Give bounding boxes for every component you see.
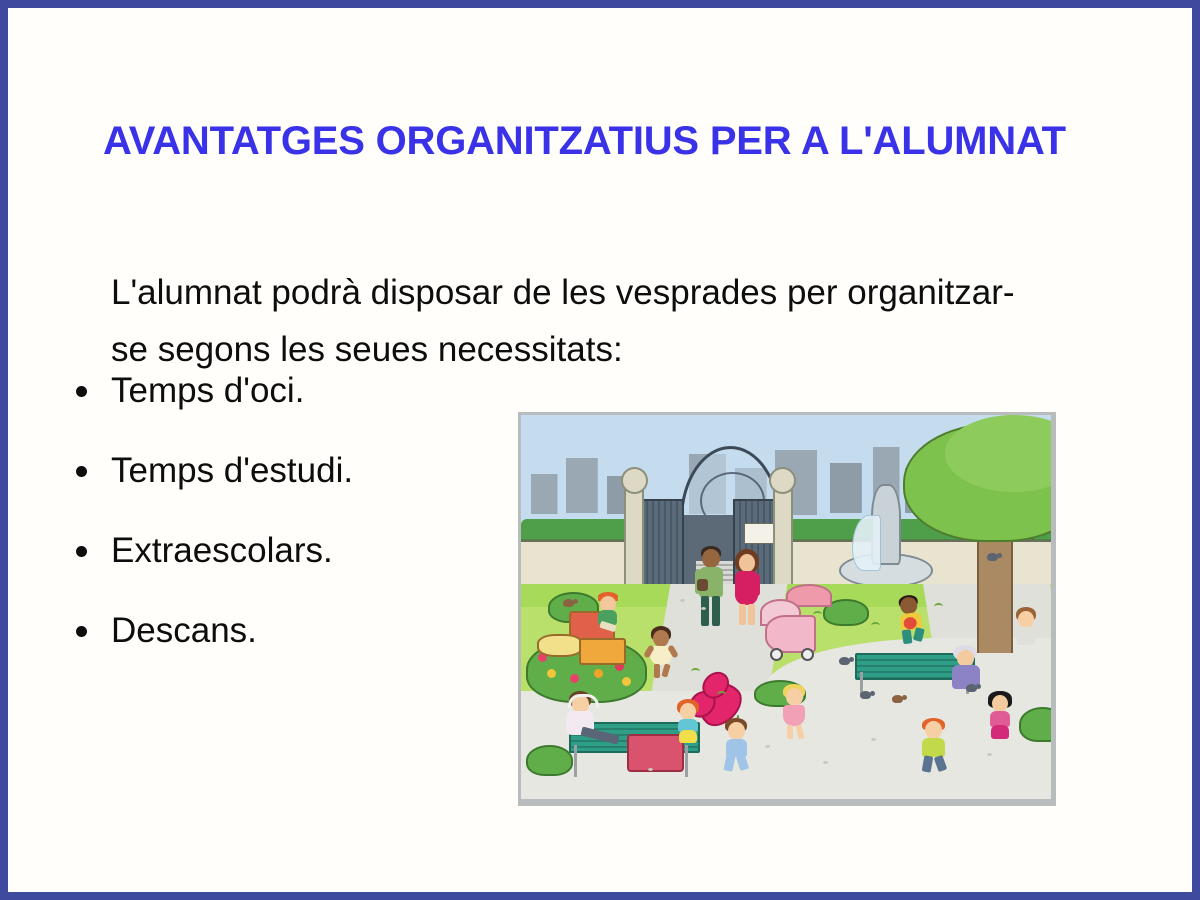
bullet-icon bbox=[76, 546, 87, 557]
toy-block bbox=[537, 634, 583, 657]
person-girl-magenta bbox=[987, 691, 1013, 743]
gate-post-ball-left bbox=[621, 467, 648, 494]
slide-canvas: AVANTATGES ORGANITZATIUS PER A L'ALUMNAT… bbox=[0, 0, 1200, 900]
pram-wheel bbox=[770, 648, 783, 661]
bush bbox=[1019, 707, 1051, 742]
headphones-icon bbox=[568, 694, 599, 708]
person-teen-headphones bbox=[563, 691, 621, 747]
person-father bbox=[696, 546, 726, 626]
person-elderly-woman bbox=[950, 645, 982, 689]
benefits-list: Temps d'oci. Temps d'estudi. Extraescola… bbox=[70, 364, 470, 684]
list-item: Extraescolars. bbox=[70, 524, 470, 604]
list-item: Temps d'estudi. bbox=[70, 444, 470, 524]
list-item: Temps d'oci. bbox=[70, 364, 470, 444]
list-item-label: Temps d'estudi. bbox=[111, 451, 353, 490]
list-item: Descans. bbox=[70, 604, 470, 684]
footprint bbox=[823, 761, 828, 764]
fountain-water-jet bbox=[852, 515, 881, 571]
bush bbox=[526, 745, 572, 776]
list-item-label: Descans. bbox=[111, 611, 257, 650]
flower bbox=[547, 669, 556, 678]
person-mother bbox=[733, 549, 761, 625]
grass-tuft bbox=[813, 611, 822, 618]
person-girl-icecream bbox=[675, 699, 701, 745]
pram-wheel bbox=[801, 648, 814, 661]
list-item-label: Extraescolars. bbox=[111, 531, 333, 570]
pigeon bbox=[839, 657, 850, 665]
grass-tuft bbox=[691, 668, 700, 675]
park-scene-canvas bbox=[521, 415, 1051, 799]
flower bbox=[622, 677, 631, 686]
person-girl-pink-dress bbox=[781, 684, 809, 738]
person-girl-by-tree bbox=[1014, 607, 1038, 647]
bench-leg bbox=[685, 745, 688, 777]
person-girl-waving bbox=[648, 626, 674, 676]
grass-tuft bbox=[627, 653, 636, 660]
bullet-icon bbox=[76, 626, 87, 637]
pigeon bbox=[987, 553, 998, 561]
baby-pram bbox=[765, 615, 817, 654]
list-item-label: Temps d'oci. bbox=[111, 371, 304, 410]
grass-tuft bbox=[934, 603, 943, 610]
bench-leg bbox=[574, 745, 577, 777]
gate-post-ball-right bbox=[769, 467, 796, 494]
footprint bbox=[871, 738, 876, 741]
intro-paragraph: L'alumnat podrà disposar de les vesprade… bbox=[111, 265, 1051, 378]
flower bbox=[570, 674, 579, 683]
pigeon bbox=[966, 684, 977, 692]
page-title: AVANTATGES ORGANITZATIUS PER A L'ALUMNAT bbox=[103, 119, 1113, 163]
pigeon bbox=[892, 695, 903, 703]
bullet-icon bbox=[76, 386, 87, 397]
grass-tuft bbox=[871, 622, 880, 629]
toy-block bbox=[579, 638, 625, 665]
person-toddler-overalls bbox=[722, 718, 752, 770]
bullet-icon bbox=[76, 466, 87, 477]
person-boy-green-jacket bbox=[919, 718, 949, 772]
person-boy-on-blocks bbox=[595, 592, 621, 632]
park-scene-illustration bbox=[518, 412, 1056, 806]
flower bbox=[594, 669, 603, 678]
grass-tuft bbox=[717, 691, 726, 698]
grass-tuft bbox=[548, 684, 557, 691]
